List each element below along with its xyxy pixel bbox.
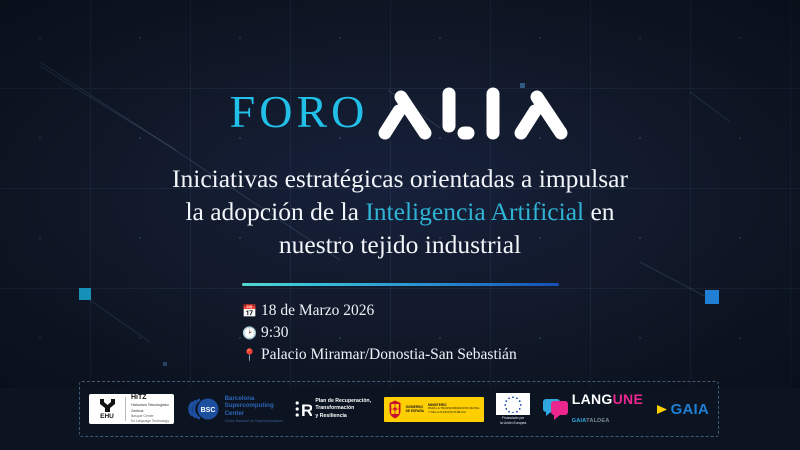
page-subtitle: Iniciativas estratégicas orientadas a im… <box>80 162 720 261</box>
logo-union-europea: Financiado por la Unión Europea <box>496 393 530 426</box>
logo-bsc: BSC Barcelona Supercomputing Center Cent… <box>187 394 283 424</box>
ehu-label: EHU <box>100 414 114 421</box>
langune-tagline: GAIATALDEA <box>572 409 643 427</box>
logo-separator <box>125 397 126 421</box>
bsc-mark-icon: BSC <box>187 394 221 424</box>
logo-ehu-hitz: EHU HiTZ Hizkuntza Teknologiako Zentroa … <box>89 394 174 424</box>
ehu-mark-icon: EHU <box>94 398 120 421</box>
calendar-icon: 📅 <box>242 301 255 322</box>
event-time: 9:30 <box>261 322 289 343</box>
logo-gaia: GAIA <box>656 402 709 417</box>
hitz-text-block: HiTZ Hizkuntza Teknologiako Zentroa Basq… <box>131 394 169 423</box>
gobierno-line-2: DE ESPAÑA <box>406 409 424 413</box>
langune-wordmark: LANGUNE <box>572 391 643 409</box>
prtr-letter: R <box>301 401 312 420</box>
event-location: Palacio Miramar/Donostia-San Sebastián <box>261 344 517 365</box>
langune-tag-a: GAIA <box>572 418 586 424</box>
eu-caption-1: Financiado por <box>502 416 524 420</box>
ministerio-line-3: Y DE LA FUNCIÓN PÚBLICA <box>428 411 480 415</box>
gaia-wordmark: GAIA <box>671 402 709 417</box>
hitz-sub-3: Basque Center <box>131 414 169 418</box>
prtr-line-2: Transformación <box>315 405 371 412</box>
location-pin-icon: 📍 <box>242 345 255 366</box>
spain-coat-of-arms-icon <box>388 400 402 419</box>
subtitle-line-2-post: en <box>584 197 614 226</box>
langune-word-a: LANG <box>572 391 613 407</box>
subtitle-highlight: Inteligencia Artificial <box>365 197 584 226</box>
ministerio-text-block: MINISTERIO PARA LA TRANSFORMACIÓN DIGITA… <box>428 403 480 415</box>
section-divider <box>242 283 559 286</box>
subtitle-line-2: la adopción de la Inteligencia Artificia… <box>80 195 720 228</box>
bsc-line-3: Center <box>225 410 283 418</box>
eu-stars-icon <box>498 394 528 413</box>
event-date-row: 📅 18 de Marzo 2026 <box>242 300 517 322</box>
subtitle-line-1: Iniciativas estratégicas orientadas a im… <box>80 162 720 195</box>
eu-caption-2: la Unión Europea <box>500 421 526 425</box>
langune-text-block: LANGUNE GAIATALDEA <box>572 391 643 427</box>
clock-icon: 🕑 <box>242 323 255 344</box>
prtr-mark-icon: R <box>295 398 312 420</box>
logo-gobierno-espana: GOBIERNO DE ESPAÑA MINISTERIO PARA LA TR… <box>384 397 484 422</box>
bsc-subtitle: Centro Nacional de Supercomputación <box>225 419 283 423</box>
title-block: FORO <box>0 84 800 140</box>
event-date: 18 de Marzo 2026 <box>261 300 374 321</box>
subtitle-line-2-pre: la adopción de la <box>185 197 365 226</box>
hitz-sub-4: for Language Technology <box>131 419 169 423</box>
event-location-row: 📍 Palacio Miramar/Donostia-San Sebastián <box>242 344 517 366</box>
prtr-text-block: Plan de Recuperación, Transformación y R… <box>315 398 371 419</box>
langune-word-b: UNE <box>613 391 643 407</box>
subtitle-line-3: nuestro tejido industrial <box>80 228 720 261</box>
foro-wordmark: FORO <box>230 89 369 135</box>
langune-tag-b: TALDEA <box>586 418 609 424</box>
gaia-triangle-icon <box>656 402 669 417</box>
speech-bubbles-icon <box>543 397 569 421</box>
hitz-label: HiTZ <box>131 394 169 402</box>
accent-dot-bottom <box>163 362 167 366</box>
eu-flag-icon <box>496 393 530 415</box>
event-details: 📅 18 de Marzo 2026 🕑 9:30 📍 Palacio Mira… <box>242 300 517 366</box>
hitz-sub-1: Hizkuntza Teknologiako <box>131 403 169 407</box>
alia-logo-icon <box>376 84 570 140</box>
bsc-mark-label: BSC <box>200 407 215 414</box>
prtr-line-3: y Resiliencia <box>315 413 371 420</box>
hitz-sub-2: Zentroa <box>131 409 169 413</box>
bsc-text-block: Barcelona Supercomputing Center Centro N… <box>225 395 283 424</box>
sponsor-logo-strip: EHU HiTZ Hizkuntza Teknologiako Zentroa … <box>79 381 719 437</box>
accent-square-right <box>705 290 719 304</box>
accent-square-left <box>79 288 91 300</box>
bsc-line-2: Supercomputing <box>225 402 283 410</box>
logo-plan-recuperacion: R Plan de Recuperación, Transformación y… <box>295 398 371 420</box>
ehu-crest-icon <box>98 398 117 413</box>
event-time-row: 🕑 9:30 <box>242 322 517 344</box>
logo-langune: LANGUNE GAIATALDEA <box>543 391 643 427</box>
gobierno-text-block: GOBIERNO DE ESPAÑA <box>406 405 424 413</box>
prtr-line-1: Plan de Recuperación, <box>315 398 371 405</box>
bsc-line-1: Barcelona <box>225 395 283 403</box>
